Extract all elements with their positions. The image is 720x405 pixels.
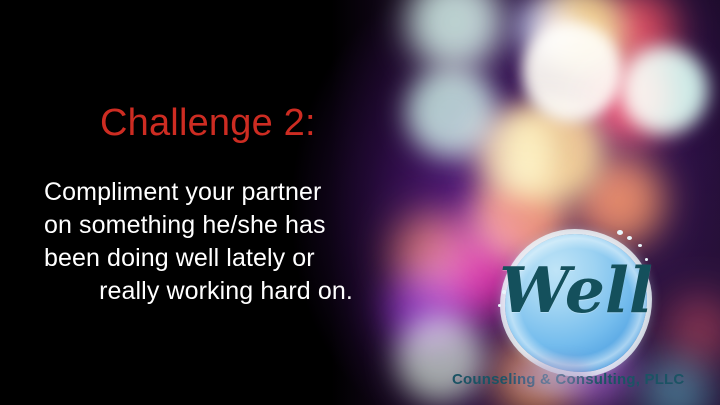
slide-title: Challenge 2: bbox=[100, 102, 316, 145]
bokeh-light-mint-far-right bbox=[620, 46, 708, 134]
paint-speck-icon bbox=[638, 244, 642, 247]
paint-speck-icon bbox=[627, 236, 632, 240]
text-content-zone: Challenge 2: Compliment your partner on … bbox=[0, 0, 430, 405]
logo-wordmark: Well bbox=[497, 254, 655, 326]
well-logo: Well bbox=[497, 228, 655, 376]
body-line-2: on something he/she has bbox=[44, 209, 408, 242]
body-line-4: really working hard on. bbox=[44, 275, 408, 308]
body-line-3: been doing well lately or bbox=[44, 242, 408, 275]
slide-canvas: Challenge 2: Compliment your partner on … bbox=[0, 0, 720, 405]
slide-body-text: Compliment your partner on something he/… bbox=[44, 176, 408, 308]
logo-tagline: Counseling & Consulting, PLLC bbox=[452, 371, 684, 388]
body-line-1: Compliment your partner bbox=[44, 176, 408, 209]
paint-speck-icon bbox=[617, 230, 623, 235]
